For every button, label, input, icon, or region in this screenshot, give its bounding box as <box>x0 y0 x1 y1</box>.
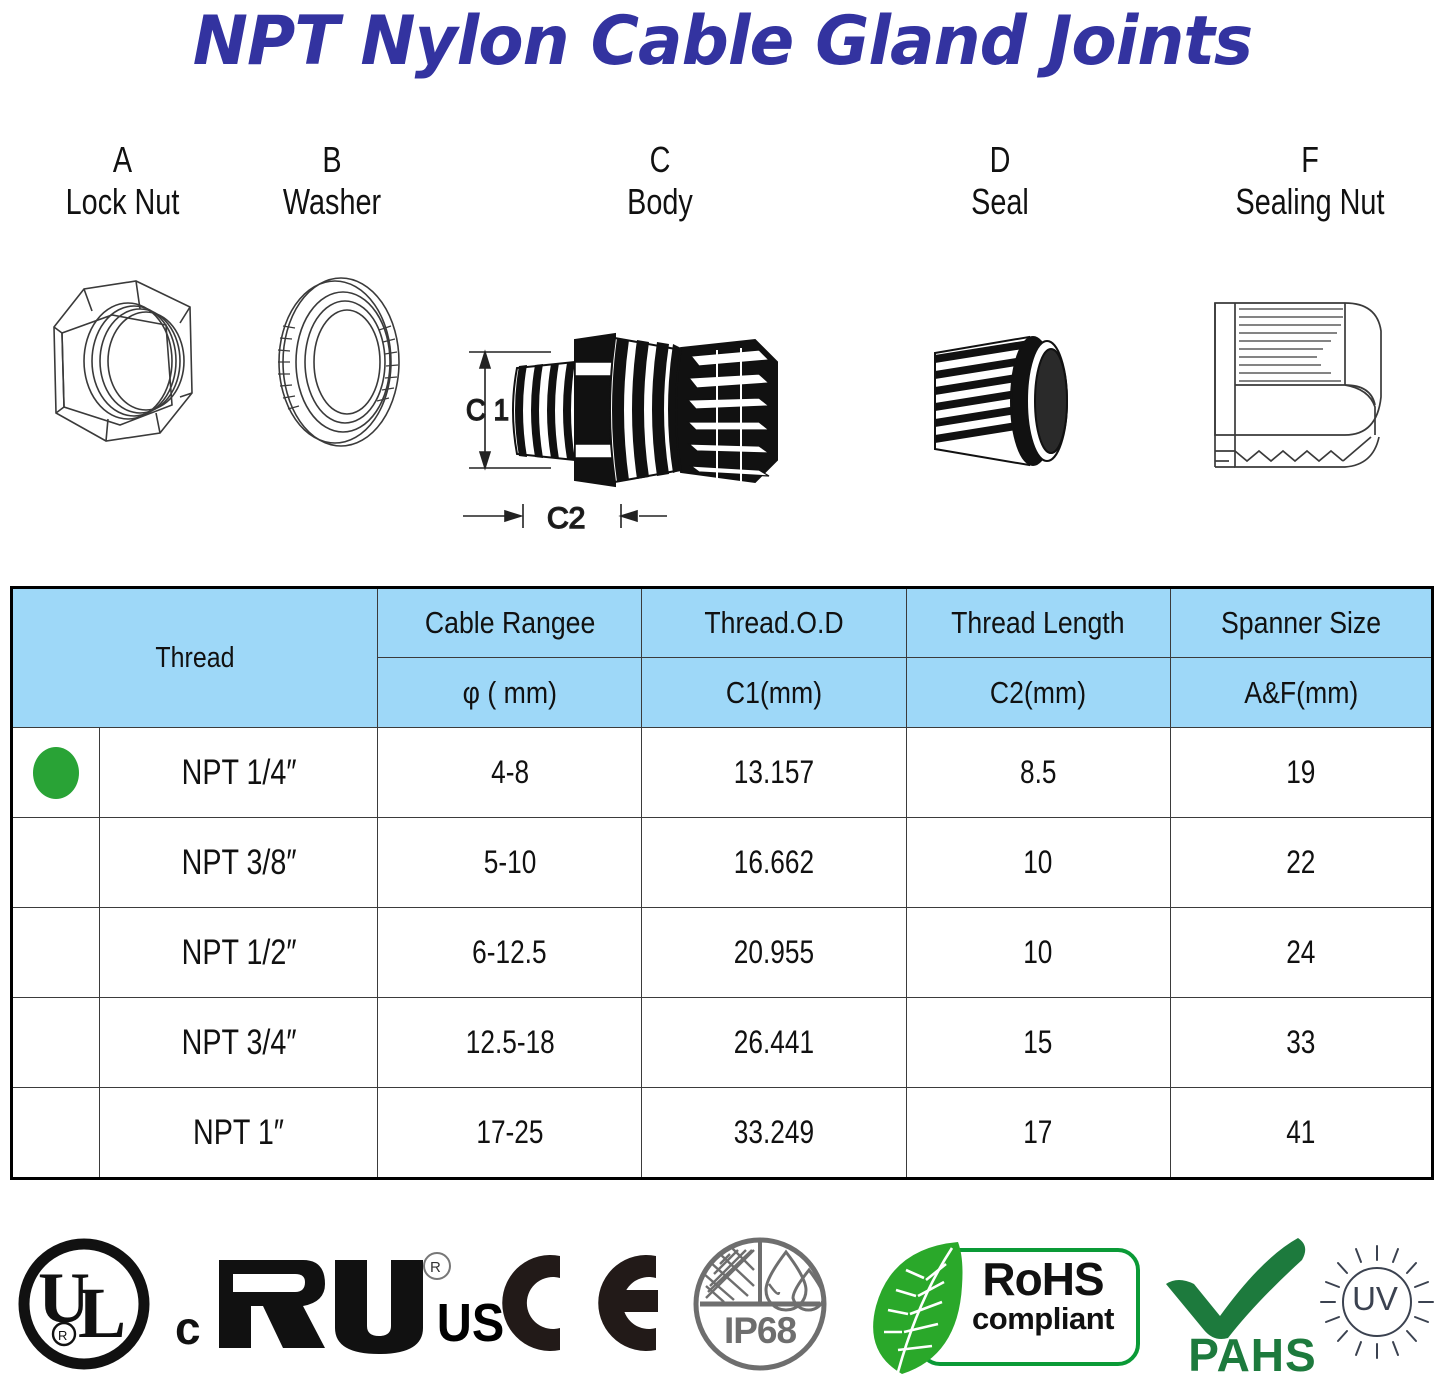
part-letter: D <box>920 140 1080 180</box>
cell-thread: NPT 1″ <box>100 1088 378 1179</box>
curus-logo-icon: c R US <box>175 1236 465 1376</box>
cell-thread-od: 20.955 <box>642 908 906 998</box>
table-row[interactable]: NPT 3/4″ 12.5-18 26.441 15 33 <box>12 998 1433 1088</box>
header-thread-length: Thread Length <box>906 588 1170 658</box>
part-label-d: D Seal <box>900 140 1100 224</box>
table-header-row-top: Thread Cable Rangee Thread.O.D Thread Le… <box>12 588 1433 658</box>
svg-text:R: R <box>430 1259 441 1276</box>
uv-label: UV <box>1320 1280 1430 1318</box>
svg-text:L: L <box>78 1273 126 1353</box>
part-letter: B <box>252 140 412 180</box>
cell-thread: NPT 1/4″ <box>100 728 378 818</box>
part-letter: C <box>580 140 740 180</box>
part-name: Sealing Nut <box>1214 180 1406 224</box>
product-spec-infographic: NPT Nylon Cable Gland Joints A Lock Nut … <box>0 0 1445 1379</box>
ip68-logo-icon: IP68 <box>690 1234 830 1379</box>
header-unit-af: A&F(mm) <box>1170 658 1432 728</box>
svg-text:R: R <box>58 1328 67 1343</box>
part-letter: A <box>41 140 205 180</box>
header-thread: Thread <box>12 588 378 728</box>
specification-table: Thread Cable Rangee Thread.O.D Thread Le… <box>10 586 1434 1180</box>
cell-cable-range: 6-12.5 <box>378 908 642 998</box>
row-marker-cell <box>12 818 100 908</box>
table-row[interactable]: NPT 3/8″ 5-10 16.662 10 22 <box>12 818 1433 908</box>
cell-cable-range: 5-10 <box>378 818 642 908</box>
washer-icon <box>255 270 420 460</box>
certification-logo-row: U L R c R US <box>0 1228 1445 1379</box>
header-unit-phi: φ ( mm) <box>378 658 642 728</box>
cell-thread-od: 33.249 <box>642 1088 906 1179</box>
parts-diagram-row: A Lock Nut B Washer C Body D Seal F Seal… <box>0 140 1445 540</box>
cell-thread-od: 13.157 <box>642 728 906 818</box>
page-title: NPT Nylon Cable Gland Joints <box>22 2 1424 81</box>
part-label-c: C Body <box>560 140 760 224</box>
part-name: Lock Nut <box>41 180 205 224</box>
header-spanner-size: Spanner Size <box>1170 588 1432 658</box>
lock-nut-icon <box>40 265 220 460</box>
part-name: Seal <box>920 180 1080 224</box>
row-marker-cell <box>12 728 100 818</box>
cell-thread-od: 26.441 <box>642 998 906 1088</box>
cell-spanner-size: 33 <box>1170 998 1432 1088</box>
cell-cable-range: 12.5-18 <box>378 998 642 1088</box>
cell-thread: NPT 3/8″ <box>100 818 378 908</box>
uv-logo-icon: UV <box>1320 1240 1435 1365</box>
cell-spanner-size: 22 <box>1170 818 1432 908</box>
ip68-label: IP68 <box>690 1310 830 1352</box>
cell-cable-range: 17-25 <box>378 1088 642 1179</box>
cell-cable-range: 4-8 <box>378 728 642 818</box>
cell-thread-length: 10 <box>906 908 1170 998</box>
svg-text:c: c <box>175 1302 201 1354</box>
sealing-nut-icon <box>1195 285 1410 490</box>
cell-spanner-size: 41 <box>1170 1088 1432 1179</box>
selected-marker-dot <box>33 747 79 799</box>
cell-spanner-size: 24 <box>1170 908 1432 998</box>
cell-thread-length: 10 <box>906 818 1170 908</box>
row-marker-cell <box>12 908 100 998</box>
cell-thread-length: 8.5 <box>906 728 1170 818</box>
svg-text:C2: C2 <box>547 502 585 535</box>
part-label-f: F Sealing Nut <box>1190 140 1430 224</box>
part-name: Washer <box>252 180 412 224</box>
body-icon: C 1 C2 <box>455 320 835 555</box>
rohs-logo-icon: RoHS compliant <box>862 1234 1152 1379</box>
part-name: Body <box>580 180 740 224</box>
row-marker-cell <box>12 1088 100 1179</box>
table-row[interactable]: NPT 1/2″ 6-12.5 20.955 10 24 <box>12 908 1433 998</box>
cell-thread: NPT 1/2″ <box>100 908 378 998</box>
ul-logo-icon: U L R <box>14 1234 154 1379</box>
table-row[interactable]: NPT 1/4″ 4-8 13.157 8.5 19 <box>12 728 1433 818</box>
svg-text:C 1: C 1 <box>466 394 509 427</box>
rohs-text-block: RoHS compliant <box>948 1256 1138 1336</box>
header-unit-c1: C1(mm) <box>642 658 906 728</box>
table-row[interactable]: NPT 1″ 17-25 33.249 17 41 <box>12 1088 1433 1179</box>
rohs-label: RoHS <box>948 1256 1138 1302</box>
part-label-b: B Washer <box>232 140 432 224</box>
part-letter: F <box>1214 140 1406 180</box>
cell-thread-length: 15 <box>906 998 1170 1088</box>
cell-spanner-size: 19 <box>1170 728 1432 818</box>
header-unit-c2: C2(mm) <box>906 658 1170 728</box>
part-label-a: A Lock Nut <box>20 140 225 224</box>
seal-icon <box>925 325 1105 495</box>
row-marker-cell <box>12 998 100 1088</box>
header-cable-range: Cable Rangee <box>378 588 642 658</box>
cell-thread-length: 17 <box>906 1088 1170 1179</box>
rohs-sublabel: compliant <box>948 1302 1138 1336</box>
cell-thread: NPT 3/4″ <box>100 998 378 1088</box>
cell-thread-od: 16.662 <box>642 818 906 908</box>
header-thread-od: Thread.O.D <box>642 588 906 658</box>
ce-logo-icon <box>488 1246 673 1366</box>
